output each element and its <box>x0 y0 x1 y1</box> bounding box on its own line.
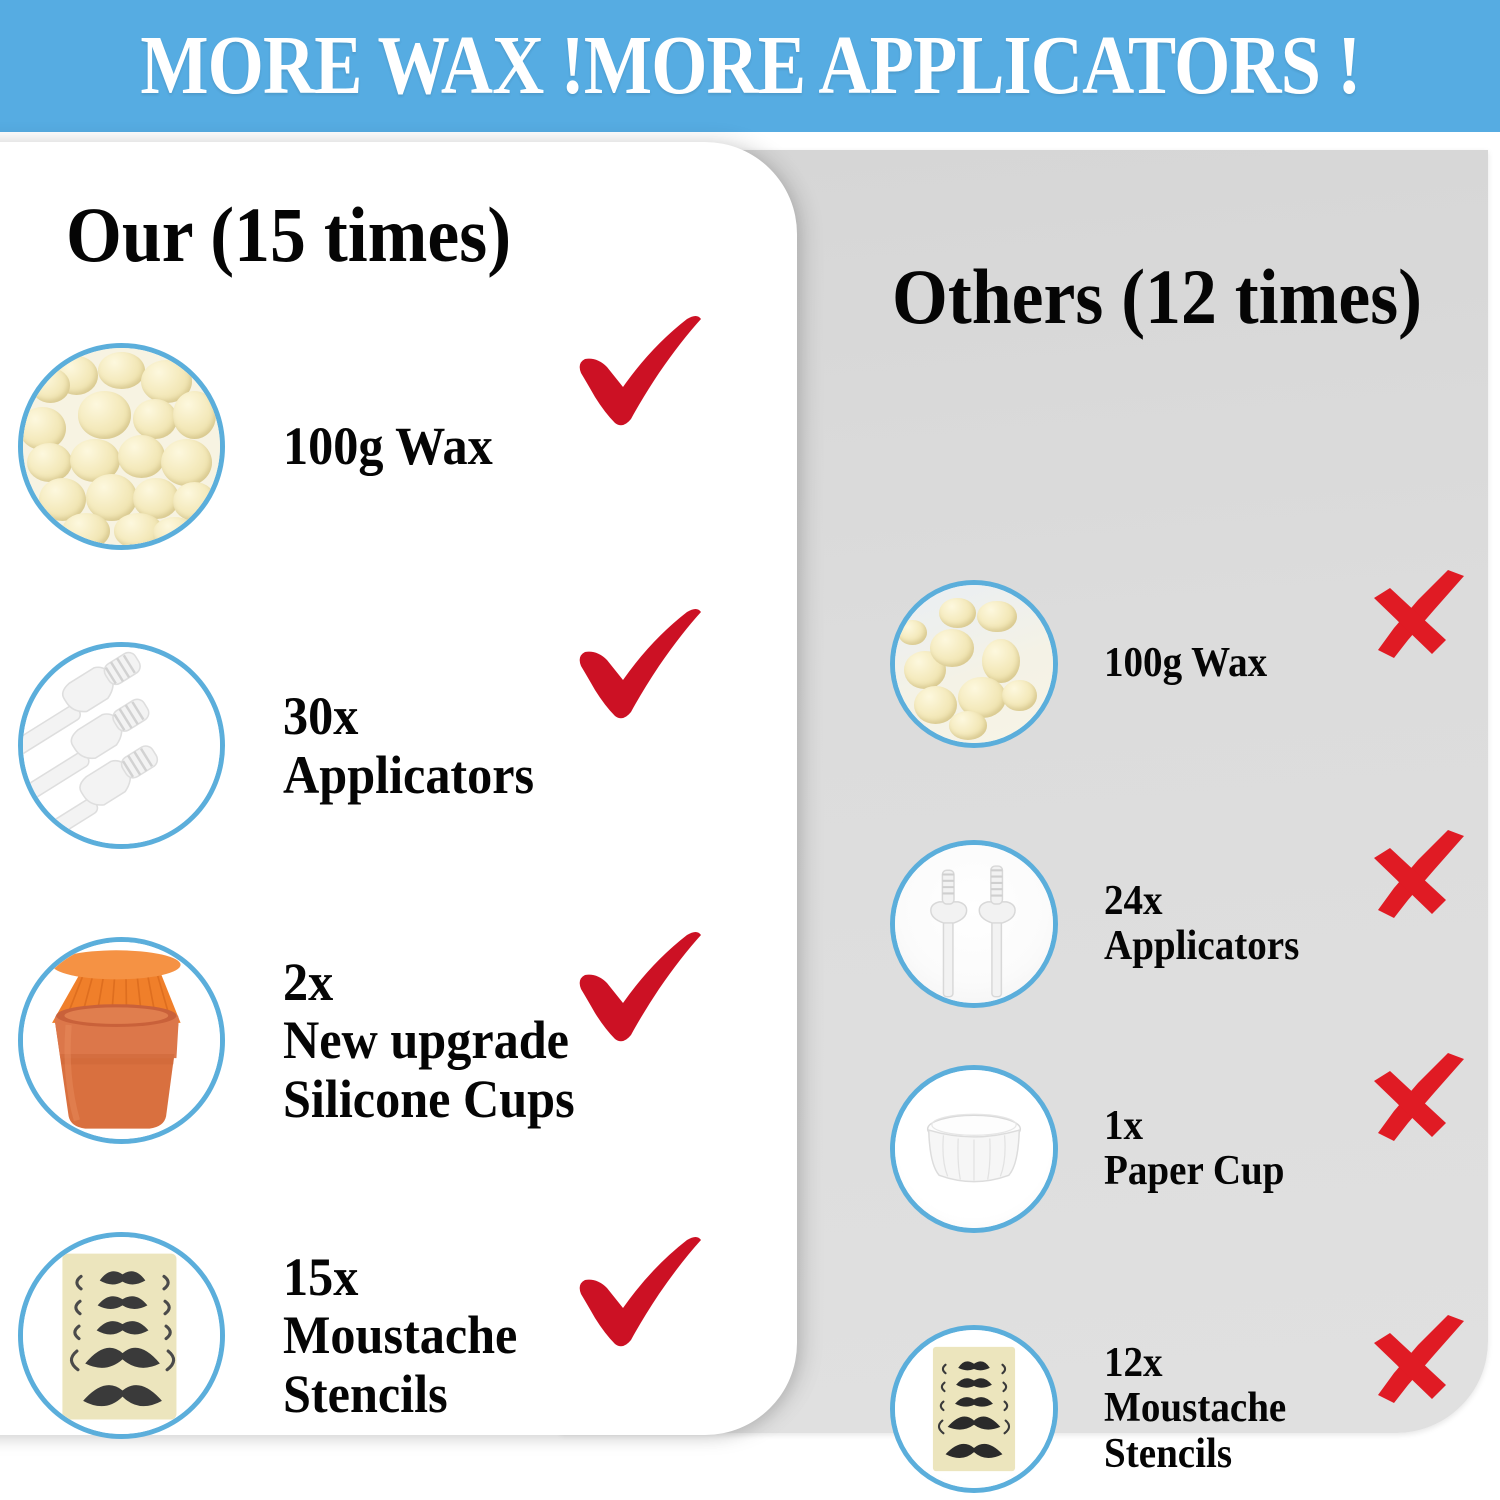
moustache-stencil-sheet-icon <box>18 1232 225 1439</box>
others-item-label: 1x Paper Cup <box>1104 1104 1341 1195</box>
banner-title: MORE WAX !MORE APPLICATORS ! <box>140 24 1360 108</box>
ours-panel-title: Our (15 times) <box>66 196 511 274</box>
others-row-wax: 100g Wax <box>890 580 1359 748</box>
check-icon <box>563 917 713 1062</box>
comparison-infographic: MORE WAX !MORE APPLICATORS ! Others (12 … <box>0 0 1500 1500</box>
paper-cup-icon <box>890 1065 1058 1233</box>
others-row-stencils: 12x Moustache Stencils <box>890 1325 1359 1493</box>
others-row-applicators: 24x Applicators <box>890 840 1359 1008</box>
ours-row-silicone-cups: 2x New upgrade Silicone Cups <box>18 937 613 1144</box>
cross-icon <box>1360 1045 1480 1160</box>
ours-item-label: 100g Wax <box>283 417 590 475</box>
others-row-paper-cup: 1x Paper Cup <box>890 1065 1359 1233</box>
ours-item-label: 15x Moustache Stencils <box>283 1248 590 1423</box>
ours-row-stencils: 15x Moustache Stencils <box>18 1232 613 1439</box>
check-icon <box>563 1222 713 1367</box>
check-icon <box>563 594 713 739</box>
others-panel-title: Others (12 times) <box>892 258 1422 336</box>
applicator-sticks-icon <box>18 642 225 849</box>
check-icon <box>563 301 713 446</box>
silicone-cup-icon <box>18 937 225 1144</box>
ours-row-wax: 100g Wax <box>18 343 613 550</box>
wax-beads-icon <box>18 343 225 550</box>
header-banner: MORE WAX !MORE APPLICATORS ! <box>0 0 1500 132</box>
ours-item-label: 30x Applicators <box>283 687 590 804</box>
moustache-stencil-sheet-icon <box>890 1325 1058 1493</box>
ours-panel: Our (15 times) <box>0 142 797 1435</box>
others-item-label: 100g Wax <box>1104 641 1341 686</box>
ours-item-label: 2x New upgrade Silicone Cups <box>283 953 590 1128</box>
others-item-label: 24x Applicators <box>1104 879 1341 970</box>
wax-beads-icon <box>890 580 1058 748</box>
cross-icon <box>1360 822 1480 937</box>
cross-icon <box>1360 1307 1480 1422</box>
others-item-label: 12x Moustache Stencils <box>1104 1341 1341 1477</box>
ours-row-applicators: 30x Applicators <box>18 642 613 849</box>
cross-icon <box>1360 562 1480 677</box>
applicator-sticks-icon <box>890 840 1058 1008</box>
